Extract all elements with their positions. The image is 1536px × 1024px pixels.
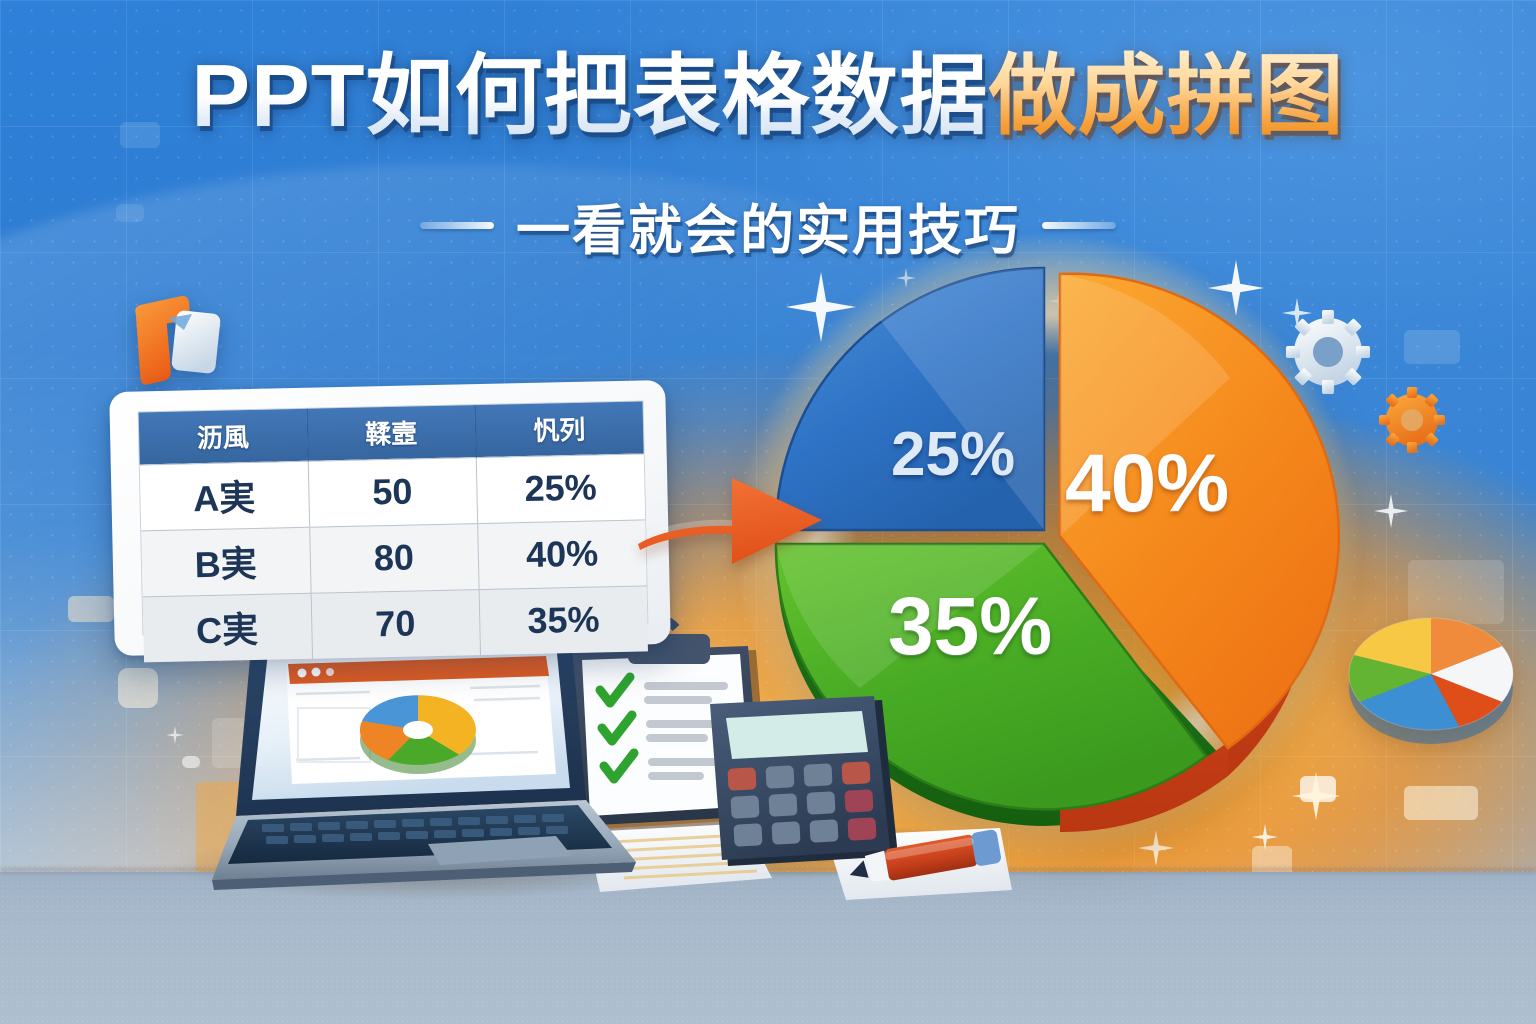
table-cell-label: C実 bbox=[143, 593, 312, 663]
calculator-display bbox=[726, 711, 868, 759]
subtitle-text: 一看就会的实用技巧 bbox=[516, 186, 1020, 265]
gear-icon-small bbox=[1379, 387, 1445, 453]
table-header-cell: 沥風 bbox=[139, 409, 308, 465]
subtitle: 一看就会的实用技巧 bbox=[0, 186, 1536, 265]
subtitle-dash-right bbox=[1042, 222, 1116, 229]
window-dot bbox=[312, 668, 321, 677]
window-dot bbox=[326, 668, 334, 676]
arrow-right-icon bbox=[636, 438, 826, 578]
table-cell-percent: 35% bbox=[479, 585, 648, 655]
laptop-screen-window bbox=[286, 656, 556, 784]
gear-icon-large bbox=[1286, 310, 1370, 394]
table-cell-value: 50 bbox=[308, 457, 477, 527]
subtitle-dash-left bbox=[420, 222, 494, 229]
table-cell-value: 70 bbox=[311, 589, 480, 659]
page-title: PPT如何把表格数据做成拼图 bbox=[0, 52, 1536, 140]
table-header-cell: 忛列 bbox=[475, 401, 644, 457]
table-header-cell: 鞣壼 bbox=[307, 405, 476, 461]
presentation-icon bbox=[112, 288, 242, 396]
data-table: 沥風 鞣壼 忛列 A実 50 25% B実 80 40% bbox=[139, 401, 648, 662]
window-dot bbox=[298, 669, 307, 678]
table-row: C実 70 35% bbox=[143, 585, 648, 662]
table-cell-value: 80 bbox=[309, 523, 478, 593]
table-cell-percent: 40% bbox=[477, 519, 646, 589]
title-white-text: PPT如何把表格数据 bbox=[191, 46, 988, 145]
table-cell-label: B実 bbox=[141, 527, 310, 597]
cover-image: PPT如何把表格数据做成拼图 一看就会的实用技巧 沥風 bbox=[0, 0, 1536, 1024]
table-row: B実 80 40% bbox=[141, 519, 646, 596]
data-table-card: 沥風 鞣壼 忛列 A実 50 25% B実 80 40% bbox=[109, 380, 671, 656]
desk-scene bbox=[0, 604, 1536, 1024]
calculator bbox=[710, 696, 898, 866]
table-cell-percent: 25% bbox=[476, 453, 645, 523]
table-cell-label: A実 bbox=[140, 461, 309, 531]
table-row: A実 50 25% bbox=[140, 453, 645, 530]
table-frame: 沥風 鞣壼 忛列 A実 50 25% B実 80 40% bbox=[138, 400, 649, 635]
laptop-screen-donut bbox=[360, 695, 476, 774]
title-orange-text: 做成拼图 bbox=[989, 46, 1345, 145]
laptop-device bbox=[212, 626, 636, 890]
gears-group bbox=[1266, 296, 1516, 486]
